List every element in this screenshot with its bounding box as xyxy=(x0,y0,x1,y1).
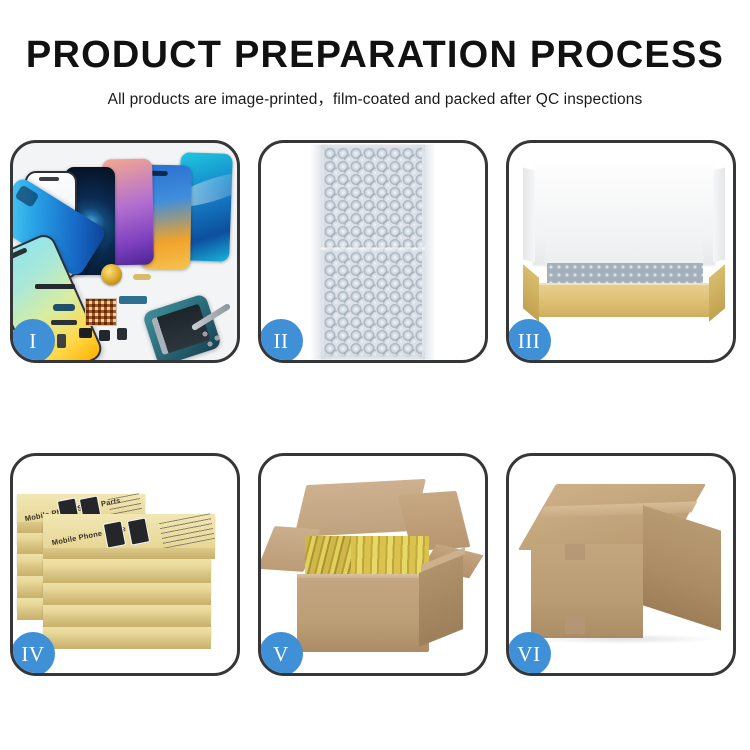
step-panel-3: III xyxy=(506,140,736,363)
step-panel-2: II xyxy=(258,140,488,363)
sealed-carton-side xyxy=(643,505,721,630)
process-steps-grid: I II III xyxy=(10,140,740,676)
flex-cable-icon xyxy=(51,320,77,325)
step-badge-3: III xyxy=(507,319,551,363)
chip-icon xyxy=(117,328,127,340)
page-subtitle: All products are image-printed，film-coat… xyxy=(0,87,750,109)
chip-icon xyxy=(57,334,66,348)
carton-tab-icon xyxy=(565,616,585,634)
chip-icon xyxy=(99,330,110,341)
page-header: PRODUCT PREPARATION PROCESS All products… xyxy=(0,0,750,109)
spare-parts-cluster xyxy=(49,280,179,352)
carton-side-panel xyxy=(419,555,463,647)
sealed-carton-front xyxy=(531,544,643,638)
retail-box xyxy=(43,558,211,574)
earpiece-mesh-icon xyxy=(35,284,75,289)
step-panel-5: V xyxy=(258,453,488,676)
carton-shadow xyxy=(527,634,717,644)
step-badge-2: II xyxy=(259,319,303,363)
inner-box-front-panel xyxy=(535,285,713,317)
flex-cable-icon xyxy=(53,304,75,311)
bubble-wrap-edge-left xyxy=(310,144,321,359)
speaker-coil-icon xyxy=(101,264,122,285)
step-panel-1: I xyxy=(10,140,240,363)
gold-connector-icon xyxy=(133,274,151,280)
carton-tab-icon xyxy=(565,544,585,560)
step-panel-6: VI xyxy=(506,453,736,676)
step-badge-4: IV xyxy=(11,632,55,676)
retail-box-labeled: Mobile Phone Spare Parts xyxy=(43,514,215,550)
screw-grid-icon xyxy=(85,298,117,326)
step-panel-4: Mobile Phone Spare Parts Mobile Phone Sp… xyxy=(10,453,240,676)
screws-icon xyxy=(201,330,227,348)
step-badge-1: I xyxy=(11,319,55,363)
page-title: PRODUCT PREPARATION PROCESS xyxy=(0,36,750,74)
bubble-wrap-edge-right xyxy=(425,144,436,359)
inner-box-back-wall xyxy=(545,201,703,267)
carton-front-panel xyxy=(297,578,429,652)
step-badge-6: VI xyxy=(507,632,551,676)
chip-icon xyxy=(79,328,92,338)
step-badge-5: V xyxy=(259,632,303,676)
flex-cable-icon xyxy=(119,296,147,304)
bubble-wrap-seam xyxy=(321,247,425,252)
bubble-wrap-sheet xyxy=(321,144,425,359)
